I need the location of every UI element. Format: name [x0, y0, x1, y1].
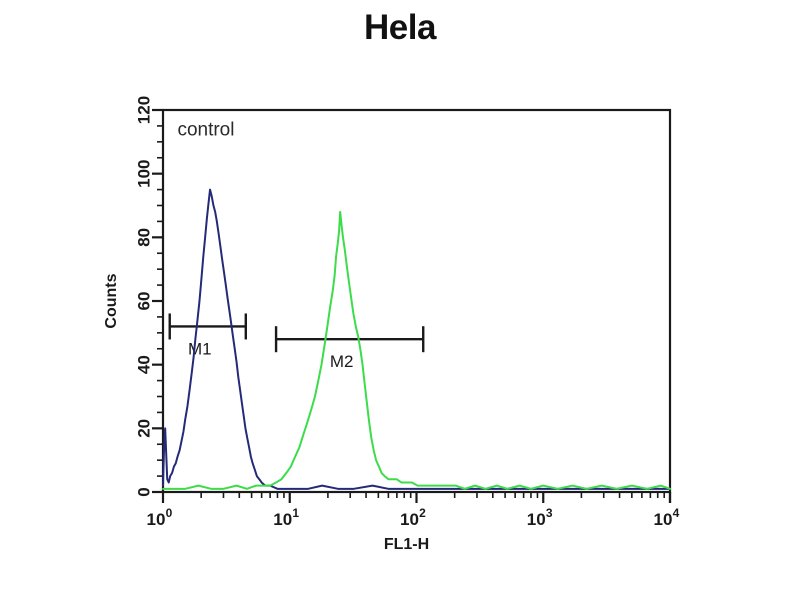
control-annotation-label: control — [177, 119, 234, 140]
histogram-plot: 020406080100120Counts100101102103104FL1-… — [0, 0, 800, 600]
histogram-trace-sample — [163, 212, 670, 489]
y-axis-tick-label: 40 — [134, 355, 153, 374]
y-axis-tick-label: 100 — [134, 159, 153, 187]
x-axis-tick-label: 10 — [654, 510, 673, 529]
x-axis-tick-label: 10 — [147, 510, 166, 529]
y-axis-tick-label: 20 — [134, 419, 153, 438]
x-axis-tick-label: 10 — [273, 510, 292, 529]
x-axis-title: FL1-H — [384, 536, 429, 553]
x-axis-tick-label: 10 — [527, 510, 546, 529]
y-axis-tick-label: 80 — [134, 228, 153, 247]
x-axis-tick-exponent: 3 — [546, 506, 553, 520]
x-axis-tick-exponent: 2 — [419, 506, 426, 520]
gate-label: M1 — [188, 339, 212, 358]
x-axis-tick-exponent: 4 — [673, 506, 680, 520]
gate-marker-m2[interactable]: M2 — [276, 326, 423, 371]
gate-label: M2 — [330, 352, 354, 371]
flow-cytometry-figure: Hela 020406080100120Counts10010110210310… — [0, 0, 800, 600]
plot-frame — [163, 110, 670, 492]
y-axis-tick-label: 60 — [134, 292, 153, 311]
y-axis-tick-label: 120 — [134, 96, 153, 124]
y-axis-title: Counts — [103, 273, 120, 328]
x-axis-tick-exponent: 1 — [292, 506, 299, 520]
y-axis-tick-label: 0 — [134, 487, 153, 496]
x-axis-tick-exponent: 0 — [166, 506, 173, 520]
x-axis-tick-label: 10 — [400, 510, 419, 529]
